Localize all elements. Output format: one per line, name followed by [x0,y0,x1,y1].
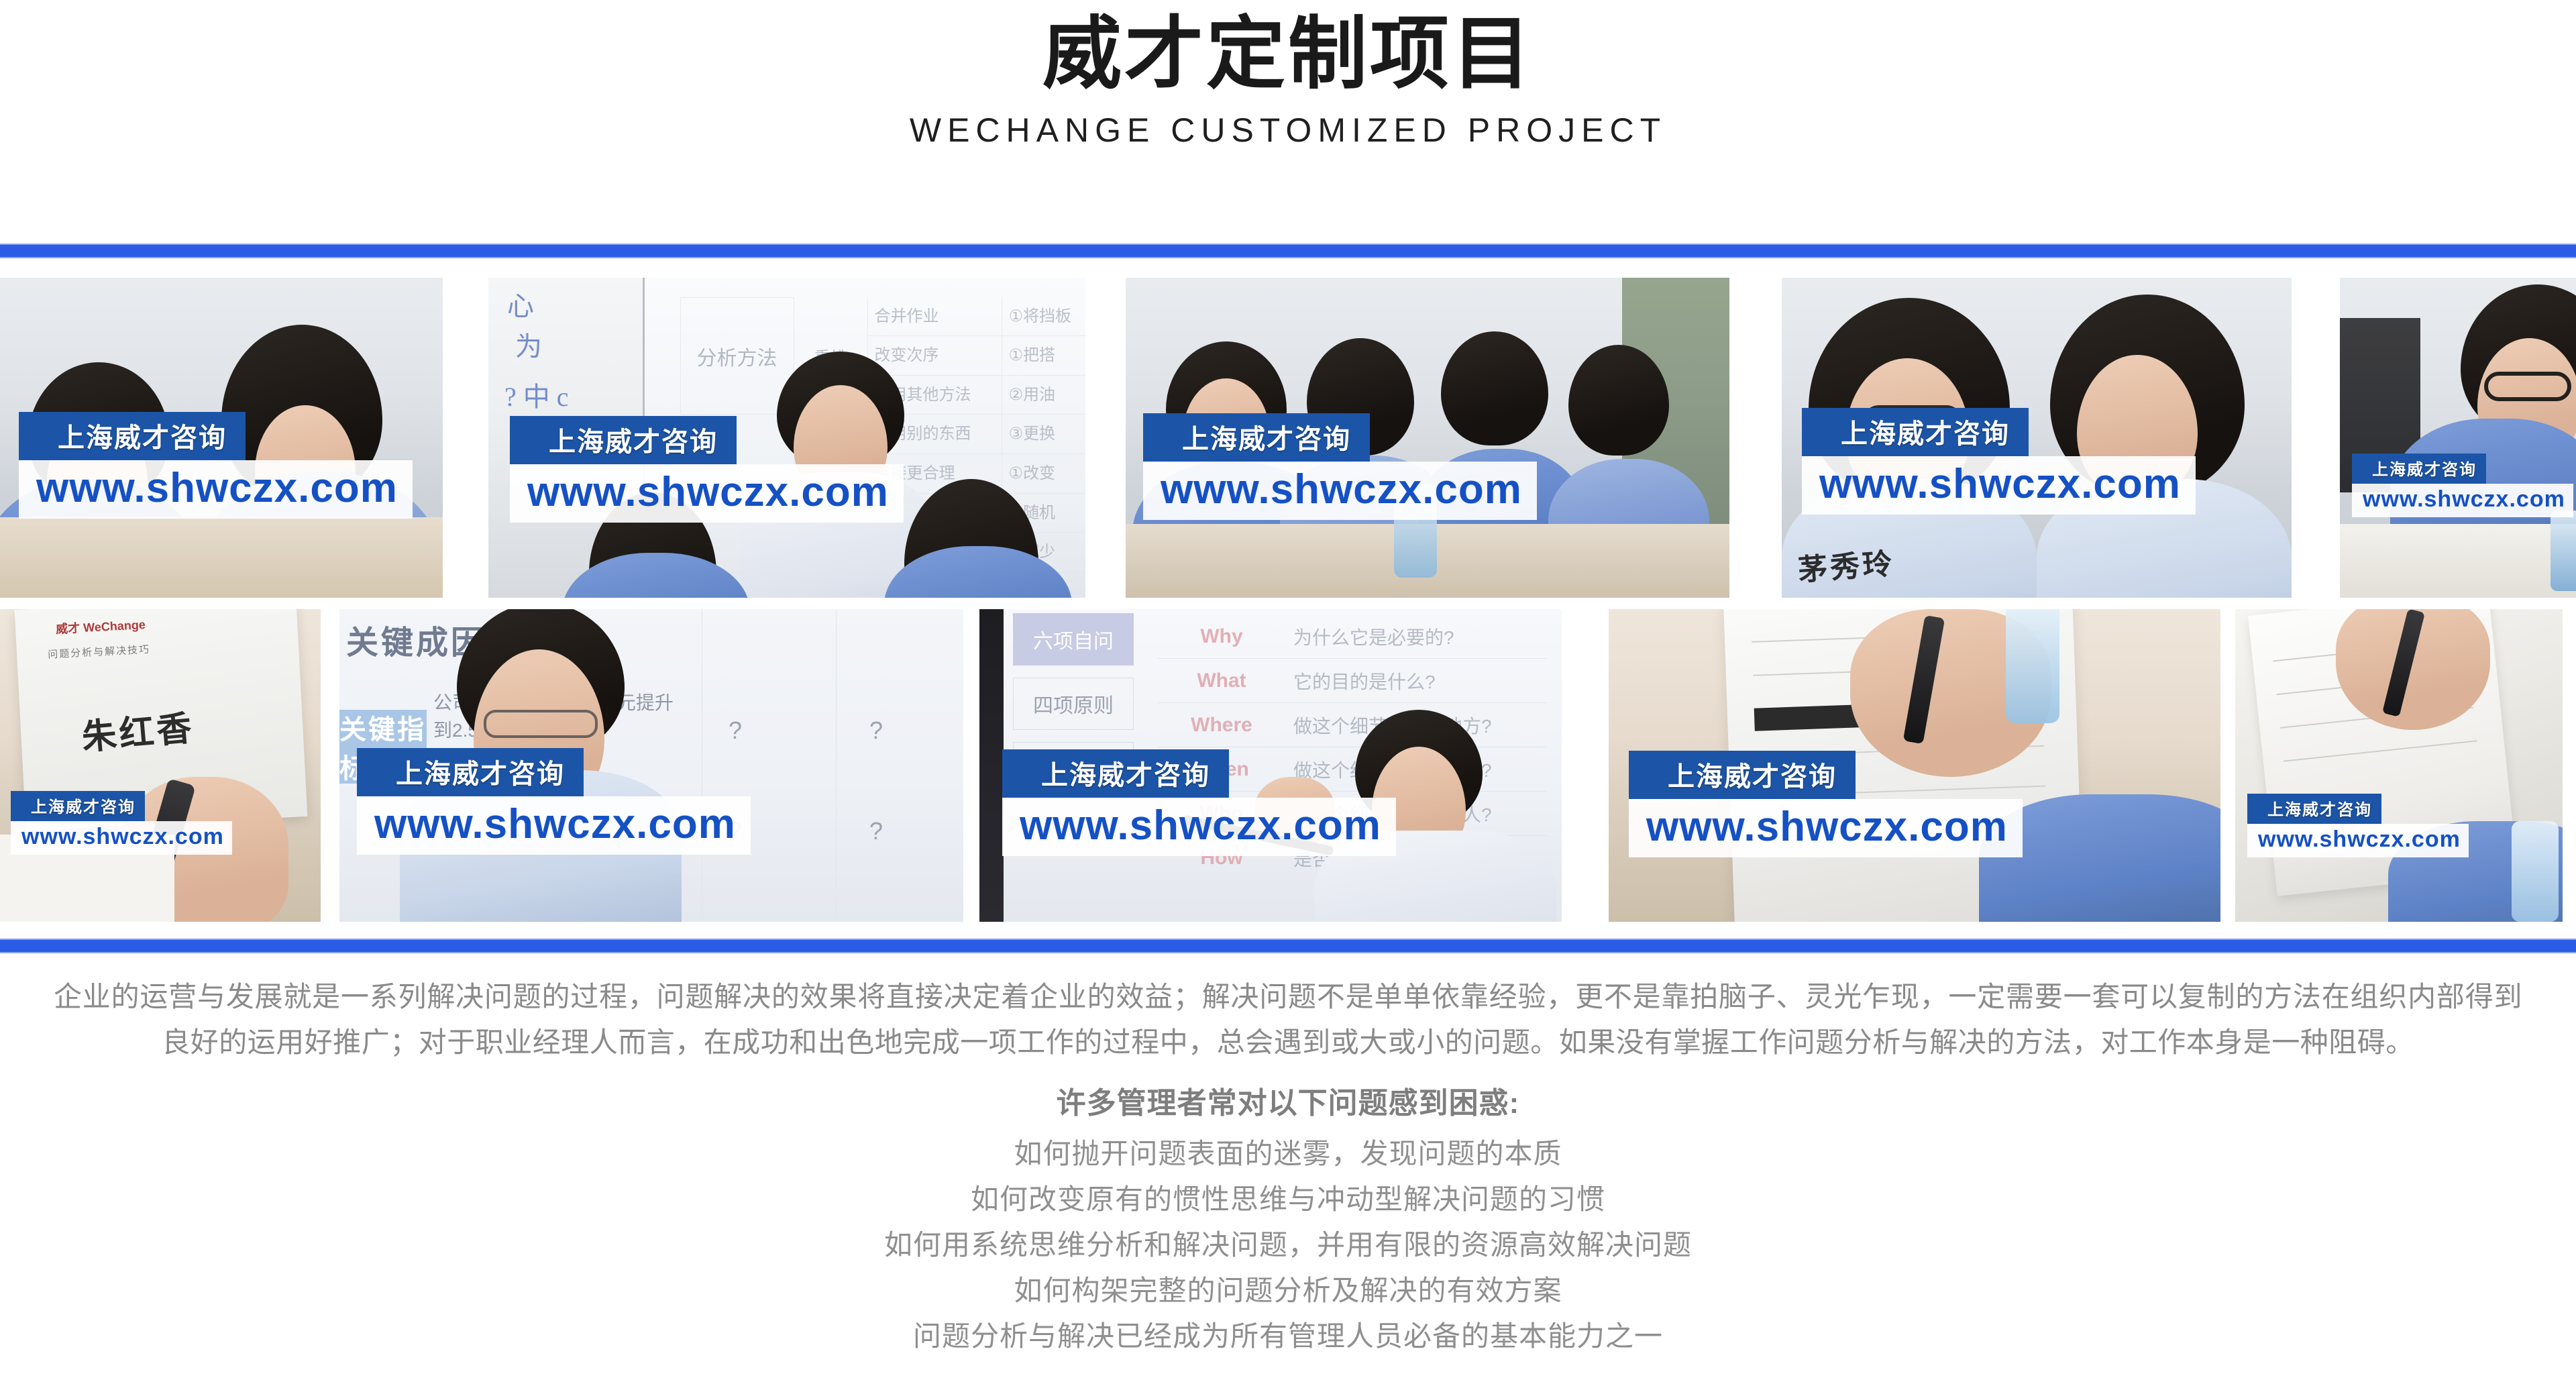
watermark: 上海威才咨询 www.shwczx.com [2247,794,2469,857]
whiteboard-scribble: ? 中 c [504,375,569,414]
watermark-company: 上海威才咨询 [2352,454,2486,484]
watermark-url: www.shwczx.com [357,796,751,855]
eyeglasses [484,710,598,738]
list-item: 如何构架完整的问题分析及解决的有效方案 [0,1268,2576,1314]
gallery-photo-9[interactable]: 上海威才咨询 www.shwczx.com [1609,609,2220,922]
eyeglasses [2484,372,2571,401]
page-title: 威才定制项目 [0,12,2576,97]
watermark-company: 上海威才咨询 [11,791,145,821]
logo-text: 威才 WeChange [56,615,146,637]
table-cell-key: Where [1158,714,1285,737]
photo-scene: 威才 WeChange 问题分析与解决技巧 朱红香 [0,609,321,922]
gallery-photo-1[interactable]: 上海威才咨询 www.shwczx.com [0,278,443,598]
watermark: 上海威才咨询 www.shwczx.com [1143,413,1537,520]
photo-scene [2235,609,2563,922]
watermark-url: www.shwczx.com [1002,798,1396,856]
slide-cell-unknown: ? [869,817,883,845]
gallery-photo-10[interactable]: 上海威才咨询 www.shwczx.com [2235,609,2563,922]
watermark: 上海威才咨询 www.shwczx.com [1002,749,1396,856]
watermark-company: 上海威才咨询 [2247,794,2381,824]
name-tag: 茅秀玲 [1796,539,1896,589]
gallery-photo-6[interactable]: 威才 WeChange 问题分析与解决技巧 朱红香 上海威才咨询 www.shw… [0,609,321,922]
watermark-company: 上海威才咨询 [19,412,246,460]
list-item: 问题分析与解决已经成为所有管理人员必备的基本能力之一 [0,1314,2576,1359]
watermark-url: www.shwczx.com [19,460,413,519]
list-item: 如何用系统思维分析和解决问题，并用有限的资源高效解决问题 [0,1222,2576,1268]
desk-surface [0,517,443,598]
watermark: 上海威才咨询 www.shwczx.com [357,748,751,855]
gallery-photo-4[interactable]: 茅秀玲 上海威才咨询 www.shwczx.com [1782,278,2292,598]
gallery-photo-3[interactable]: 上海威才咨询 www.shwczx.com [1126,278,1729,598]
water-bottle [2006,609,2059,723]
divider-blue-bottom [0,939,2576,953]
slide-divider [836,609,837,922]
poster-header: 威才定制项目 WECHANGE CUSTOMIZED PROJECT [0,0,2576,149]
table-cell-key: Why [1158,625,1285,648]
watermark-url: www.shwczx.com [2247,824,2469,857]
water-bottle [2551,511,2576,591]
questions-list: 如何抛开问题表面的迷雾，发现问题的本质 如何改变原有的惯性思维与冲动型解决问题的… [0,1131,2576,1359]
list-item: 如何抛开问题表面的迷雾，发现问题的本质 [0,1131,2576,1177]
slide-cell-unknown: ? [869,716,883,745]
watermark-company: 上海威才咨询 [1143,413,1370,462]
water-bottle [2512,821,2559,922]
watermark-url: www.shwczx.com [11,821,232,855]
intro-paragraph: 企业的运营与发展就是一系列解决问题的过程，问题解决的效果将直接决定着企业的效益；… [54,974,2522,1065]
gallery-photo-2[interactable]: 心 为 ? 中 c 分析方法 重排 合并作业①将挡板 改变次序①把搭 改用其他方… [488,278,1085,598]
gallery-photo-7[interactable]: 关键成因 关键指标 公司2024年目标由2亿元提升到2.5亿元 平均每月客诉由1… [339,609,963,922]
photo-scene [2340,278,2576,598]
watermark: 上海威才咨询 www.shwczx.com [1629,751,2023,857]
watermark: 上海威才咨询 www.shwczx.com [11,791,232,855]
watermark-url: www.shwczx.com [510,464,904,523]
gallery-photo-8[interactable]: 六项自问 四项原则 分析方法 Why 为什么它是必要的? What 它的目的是什… [979,609,1562,922]
table-row: Where 做这个细节最好的地方? [1158,703,1547,747]
watermark-company: 上海威才咨询 [1002,749,1229,798]
table-cell-value: 它的目的是什么? [1285,668,1436,694]
table-cell-key: What [1158,670,1285,692]
whiteboard-scribble: 心 [507,284,534,323]
divider-blue-top [0,244,2576,258]
watermark: 上海威才咨询 www.shwczx.com [19,412,413,519]
body-copy: 企业的运营与发展就是一系列解决问题的过程，问题解决的效果将直接决定着企业的效益；… [0,974,2576,1359]
watermark-url: www.shwczx.com [1143,462,1537,520]
watermark-url: www.shwczx.com [1802,456,2196,515]
slide-left-item-1: 四项原则 [1013,678,1134,730]
name-tag: 朱红香 [79,700,196,759]
whiteboard-scribble: 为 [515,325,542,364]
watermark-company: 上海威才咨询 [1802,408,2029,456]
watermark: 上海威才咨询 www.shwczx.com [2352,454,2573,517]
table-cell-value: 为什么它是必要的? [1285,623,1454,650]
table-row: Why 为什么它是必要的? [1158,615,1547,659]
watermark: 上海威才咨询 www.shwczx.com [510,416,904,523]
gallery-row-bottom: 威才 WeChange 问题分析与解决技巧 朱红香 上海威才咨询 www.shw… [0,609,2576,922]
watermark-url: www.shwczx.com [2352,484,2573,517]
gallery-row-top: 上海威才咨询 www.shwczx.com 心 为 ? 中 c 分析方法 重排 … [0,278,2576,598]
watermark-company: 上海威才咨询 [1629,751,1856,799]
questions-lead: 许多管理者常对以下问题感到困惑: [0,1079,2576,1122]
gallery-photo-5[interactable]: 上海威才咨询 www.shwczx.com [2340,278,2576,598]
watermark-company: 上海威才咨询 [510,416,737,464]
table-row: What 它的目的是什么? [1158,659,1547,703]
slide-left-item-0: 六项自问 [1013,613,1134,666]
paper-sheet [2340,524,2576,598]
watermark-url: www.shwczx.com [1629,799,2023,857]
slide-cell-unknown: ? [729,716,742,745]
list-item: 如何改变原有的惯性思维与冲动型解决问题的习惯 [0,1177,2576,1222]
course-label: 问题分析与解决技巧 [48,642,151,661]
page-subtitle: WECHANGE CUSTOMIZED PROJECT [0,112,2576,149]
poster-page: 威才定制项目 WECHANGE CUSTOMIZED PROJECT 上海威才咨… [0,0,2576,1380]
watermark-company: 上海威才咨询 [357,748,584,796]
watermark: 上海威才咨询 www.shwczx.com [1802,408,2196,515]
